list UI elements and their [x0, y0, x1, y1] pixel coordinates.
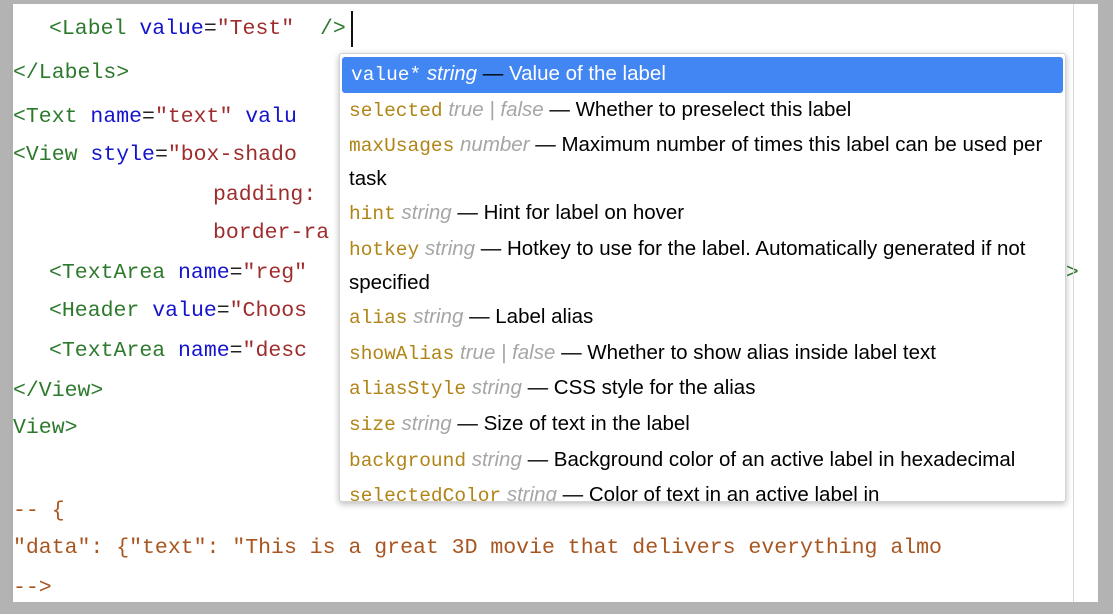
code-line: <TextArea name="reg" — [49, 254, 307, 293]
autocomplete-list[interactable]: value* string — Value of the labelselect… — [340, 57, 1065, 502]
code-token-plain — [139, 299, 152, 323]
autocomplete-item-type: string — [507, 483, 557, 502]
code-token-tag: </Labels> — [13, 61, 129, 85]
autocomplete-item-description: Hint for label on hover — [484, 201, 685, 224]
autocomplete-item-type: string — [472, 376, 522, 399]
autocomplete-item-type: string — [402, 412, 452, 435]
autocomplete-item-description: Label alias — [495, 305, 593, 328]
code-token-tag: <Label — [49, 17, 126, 41]
autocomplete-item-name: size — [349, 414, 396, 436]
autocomplete-item-name: value* — [351, 64, 421, 86]
code-token-attr: value — [152, 299, 217, 323]
code-token-plain: = — [230, 339, 243, 363]
autocomplete-item-dash: — — [549, 98, 570, 121]
code-token-plain — [78, 143, 91, 167]
code-line: View> — [13, 409, 78, 448]
autocomplete-item-description: Whether to preselect this label — [576, 98, 852, 121]
autocomplete-item-type: number — [460, 133, 530, 156]
autocomplete-item-name: aliasStyle — [349, 378, 466, 400]
code-token-attr: style — [90, 143, 155, 167]
code-token-plain — [165, 261, 178, 285]
autocomplete-popup[interactable]: value* string — Value of the labelselect… — [339, 53, 1066, 502]
autocomplete-item-name: selected — [349, 100, 443, 122]
code-token-val: "Choos — [230, 299, 307, 323]
autocomplete-item-name: alias — [349, 307, 408, 329]
autocomplete-item[interactable]: hint string — Hint for label on hover — [340, 196, 1065, 232]
autocomplete-item-name: background — [349, 450, 466, 472]
code-token-plain — [232, 105, 245, 129]
code-token-attr: name — [178, 339, 230, 363]
app-frame: <Label value="Test" /></Labels><Text nam… — [0, 0, 1113, 614]
code-token-comment: "data": {"text": "This is a great 3D mov… — [13, 536, 942, 560]
autocomplete-item-dash: — — [535, 133, 556, 156]
code-token-val: "desc — [243, 339, 308, 363]
autocomplete-item-dash: — — [528, 448, 549, 471]
code-token-attr: name — [178, 261, 230, 285]
code-line: <Text name="text" valu — [13, 98, 297, 137]
autocomplete-item[interactable]: selected true | false — Whether to prese… — [340, 93, 1065, 129]
autocomplete-item-name: maxUsages — [349, 135, 454, 157]
autocomplete-item-dash: — — [563, 483, 584, 502]
code-token-plain: = — [217, 299, 230, 323]
editor-right-rule — [1073, 4, 1074, 602]
code-line: <TextArea name="desc — [49, 332, 307, 371]
code-token-val: "Test" — [217, 17, 294, 41]
code-token-plain: = — [204, 17, 217, 41]
autocomplete-item-dash: — — [469, 305, 490, 328]
code-token-val: "box-shado — [168, 143, 297, 167]
autocomplete-item[interactable]: aliasStyle string — CSS style for the al… — [340, 371, 1065, 407]
code-token-tag: <TextArea — [49, 261, 165, 285]
code-line: padding: — [213, 176, 316, 215]
autocomplete-item-name: showAlias — [349, 343, 454, 365]
code-token-val: padding: — [213, 183, 316, 207]
autocomplete-item-type: true | false — [448, 98, 543, 121]
code-token-plain — [165, 339, 178, 363]
autocomplete-item[interactable]: value* string — Value of the label — [342, 57, 1063, 93]
code-token-comment: --> — [13, 576, 52, 600]
code-token-val: border-ra — [213, 221, 329, 245]
autocomplete-item-dash: — — [528, 376, 549, 399]
code-token-plain — [126, 17, 139, 41]
code-token-plain — [78, 105, 91, 129]
code-token-plain — [294, 17, 320, 41]
code-token-tag: <Header — [49, 299, 139, 323]
code-line: -- { — [13, 492, 65, 531]
code-token-tag: <View — [13, 143, 78, 167]
text-caret — [351, 11, 353, 47]
autocomplete-item-name: hint — [349, 203, 396, 225]
code-line: "data": {"text": "This is a great 3D mov… — [13, 529, 942, 568]
autocomplete-item-dash: — — [481, 237, 502, 260]
autocomplete-item-description: Background color of an active label in h… — [554, 448, 1016, 471]
code-token-val: "text" — [155, 105, 232, 129]
autocomplete-item-type: string — [427, 62, 477, 85]
autocomplete-item-dash: — — [457, 412, 478, 435]
autocomplete-item-name: selectedColor — [349, 485, 501, 502]
code-token-attr: value — [139, 17, 204, 41]
autocomplete-item-description: Size of text in the label — [484, 412, 690, 435]
autocomplete-item-type: true | false — [460, 341, 555, 364]
autocomplete-item-description: Color of text in an active label in — [589, 483, 880, 502]
autocomplete-item[interactable]: selectedColor string — Color of text in … — [340, 478, 1065, 502]
code-line: </Labels> — [13, 54, 129, 93]
autocomplete-item-description: Whether to show alias inside label text — [587, 341, 936, 364]
autocomplete-item-dash: — — [483, 62, 504, 85]
autocomplete-item-type: string — [472, 448, 522, 471]
code-line: <Label value="Test" /> — [49, 10, 346, 49]
code-token-tag: View> — [13, 416, 78, 440]
autocomplete-item-type: string — [425, 237, 475, 260]
code-token-tag: /> — [320, 17, 346, 41]
code-token-tag: <TextArea — [49, 339, 165, 363]
autocomplete-item-description: CSS style for the alias — [554, 376, 756, 399]
code-token-val: "reg" — [243, 261, 308, 285]
autocomplete-item[interactable]: background string — Background color of … — [340, 443, 1065, 479]
code-line: border-ra — [213, 214, 329, 253]
autocomplete-item-type: string — [413, 305, 463, 328]
autocomplete-item[interactable]: alias string — Label alias — [340, 300, 1065, 336]
code-token-comment: -- { — [13, 499, 65, 523]
autocomplete-item-description: Value of the label — [509, 62, 666, 85]
code-token-tag: </View> — [13, 379, 103, 403]
autocomplete-item-type: string — [402, 201, 452, 224]
code-token-plain: = — [230, 261, 243, 285]
code-token-plain: = — [142, 105, 155, 129]
autocomplete-item-dash: — — [561, 341, 582, 364]
autocomplete-item[interactable]: maxUsages number — Maximum number of tim… — [340, 128, 1065, 196]
code-line: </View> — [13, 372, 103, 411]
code-line: <Header value="Choos — [49, 292, 307, 331]
autocomplete-item[interactable]: hotkey string — Hotkey to use for the la… — [340, 232, 1065, 300]
code-token-attr: valu — [245, 105, 297, 129]
autocomplete-item-dash: — — [457, 201, 478, 224]
autocomplete-item[interactable]: size string — Size of text in the label — [340, 407, 1065, 443]
code-line: --> — [13, 569, 52, 602]
code-token-tag: <Text — [13, 105, 78, 129]
code-line: <View style="box-shado — [13, 136, 297, 175]
autocomplete-item[interactable]: showAlias true | false — Whether to show… — [340, 336, 1065, 372]
code-token-plain: = — [155, 143, 168, 167]
autocomplete-item-name: hotkey — [349, 239, 419, 261]
code-token-attr: name — [90, 105, 142, 129]
